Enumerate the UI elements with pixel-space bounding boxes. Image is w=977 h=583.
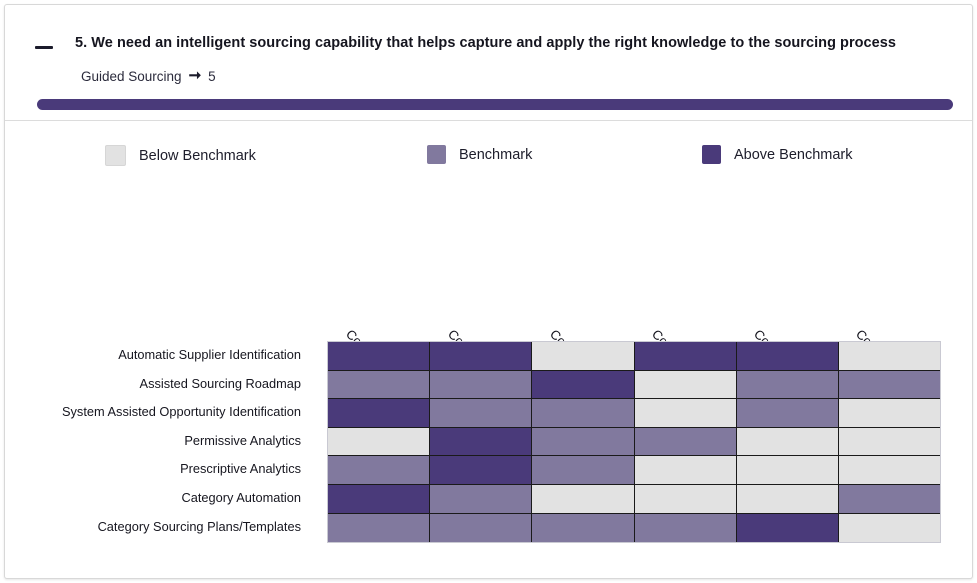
heatmap-cell[interactable]	[839, 456, 940, 485]
heatmap-cell[interactable]	[635, 514, 737, 543]
card-header: 5. We need an intelligent sourcing capab…	[5, 5, 972, 121]
heatmap-row	[328, 514, 940, 543]
heatmap-grid	[327, 341, 941, 543]
legend-swatch-above-icon	[702, 145, 721, 164]
heatmap-row	[328, 485, 940, 514]
insight-card: 5. We need an intelligent sourcing capab…	[4, 4, 973, 579]
heatmap-cell[interactable]	[635, 428, 737, 457]
heatmap-row	[328, 342, 940, 371]
heatmap-chart: Company ACompany BCompany CCompany XComp…	[5, 193, 972, 583]
heatmap-row	[328, 371, 940, 400]
heatmap-cell[interactable]	[430, 399, 532, 428]
heatmap-cell[interactable]	[839, 399, 940, 428]
heatmap-cell[interactable]	[430, 456, 532, 485]
heatmap-cell[interactable]	[635, 399, 737, 428]
minus-icon[interactable]	[35, 41, 53, 55]
row-label-7[interactable]: Category Sourcing Plans/Templates	[5, 513, 315, 542]
heatmap-cell[interactable]	[737, 371, 839, 400]
heatmap-cell[interactable]	[635, 456, 737, 485]
column-header-3[interactable]: Company C	[531, 233, 633, 341]
heatmap-cell[interactable]	[532, 371, 634, 400]
heatmap-cell[interactable]	[328, 456, 430, 485]
row-label-3[interactable]: System Assisted Opportunity Identificati…	[5, 398, 315, 427]
heatmap-cell[interactable]	[532, 342, 634, 371]
heatmap-cell[interactable]	[839, 428, 940, 457]
heatmap-cell[interactable]	[737, 342, 839, 371]
breadcrumb-label: Guided Sourcing	[81, 69, 182, 84]
column-header-5[interactable]: Company Y	[735, 233, 837, 341]
heatmap-cell[interactable]	[532, 456, 634, 485]
column-header-1[interactable]: Company A	[327, 233, 429, 341]
heatmap-cell[interactable]	[737, 485, 839, 514]
row-label-2[interactable]: Assisted Sourcing Roadmap	[5, 370, 315, 399]
column-header-2[interactable]: Company B	[429, 233, 531, 341]
heatmap-cell[interactable]	[635, 342, 737, 371]
heatmap-cell[interactable]	[839, 514, 940, 543]
title-text: We need an intelligent sourcing capabili…	[91, 35, 896, 51]
legend-swatch-benchmark-icon	[427, 145, 446, 164]
heatmap-cell[interactable]	[328, 342, 430, 371]
heatmap-row	[328, 456, 940, 485]
heatmap-cell[interactable]	[635, 371, 737, 400]
heatmap-cell[interactable]	[430, 342, 532, 371]
legend-label-above: Above Benchmark	[734, 147, 852, 163]
row-label-4[interactable]: Permissive Analytics	[5, 427, 315, 456]
chart-legend: Below Benchmark Benchmark Above Benchmar…	[5, 121, 972, 193]
legend-item-above[interactable]: Above Benchmark	[702, 145, 852, 164]
column-header-band: Company ACompany BCompany CCompany XComp…	[327, 233, 939, 341]
heatmap-cell[interactable]	[839, 342, 940, 371]
heatmap-cell[interactable]	[737, 514, 839, 543]
legend-label-benchmark: Benchmark	[459, 147, 532, 163]
heatmap-row	[328, 428, 940, 457]
row-label-1[interactable]: Automatic Supplier Identification	[5, 341, 315, 370]
heatmap-cell[interactable]	[839, 371, 940, 400]
heatmap-cell[interactable]	[635, 485, 737, 514]
heatmap-cell[interactable]	[430, 514, 532, 543]
heatmap-cell[interactable]	[839, 485, 940, 514]
heatmap-cell[interactable]	[328, 428, 430, 457]
heatmap-cell[interactable]	[737, 456, 839, 485]
screenshot-root: 5. We need an intelligent sourcing capab…	[0, 0, 977, 583]
heatmap-cell[interactable]	[328, 371, 430, 400]
heatmap-cell[interactable]	[328, 514, 430, 543]
heatmap-cell[interactable]	[328, 485, 430, 514]
row-label-column: Automatic Supplier IdentificationAssiste…	[5, 341, 315, 541]
legend-item-benchmark[interactable]: Benchmark	[427, 145, 532, 164]
arrow-right-icon: ➞	[189, 68, 202, 83]
heatmap-cell[interactable]	[532, 485, 634, 514]
row-label-6[interactable]: Category Automation	[5, 484, 315, 513]
heatmap-cell[interactable]	[430, 428, 532, 457]
legend-item-below[interactable]: Below Benchmark	[105, 145, 256, 166]
legend-swatch-below-icon	[105, 145, 126, 166]
page-title: 5. We need an intelligent sourcing capab…	[75, 35, 955, 51]
heatmap-cell[interactable]	[737, 399, 839, 428]
heatmap-cell[interactable]	[532, 399, 634, 428]
title-number: 5.	[75, 35, 87, 51]
heatmap-cell[interactable]	[430, 485, 532, 514]
heatmap-cell[interactable]	[430, 371, 532, 400]
row-label-5[interactable]: Prescriptive Analytics	[5, 455, 315, 484]
progress-bar	[37, 99, 953, 110]
column-header-4[interactable]: Company X	[633, 233, 735, 341]
heatmap-cell[interactable]	[532, 428, 634, 457]
breadcrumb[interactable]: Guided Sourcing ➞ 5	[81, 69, 216, 84]
heatmap-row	[328, 399, 940, 428]
breadcrumb-value: 5	[208, 69, 216, 84]
heatmap-cell[interactable]	[532, 514, 634, 543]
legend-label-below: Below Benchmark	[139, 148, 256, 164]
heatmap-cell[interactable]	[328, 399, 430, 428]
heatmap-cell[interactable]	[737, 428, 839, 457]
column-header-6[interactable]: Company Z	[837, 233, 939, 341]
